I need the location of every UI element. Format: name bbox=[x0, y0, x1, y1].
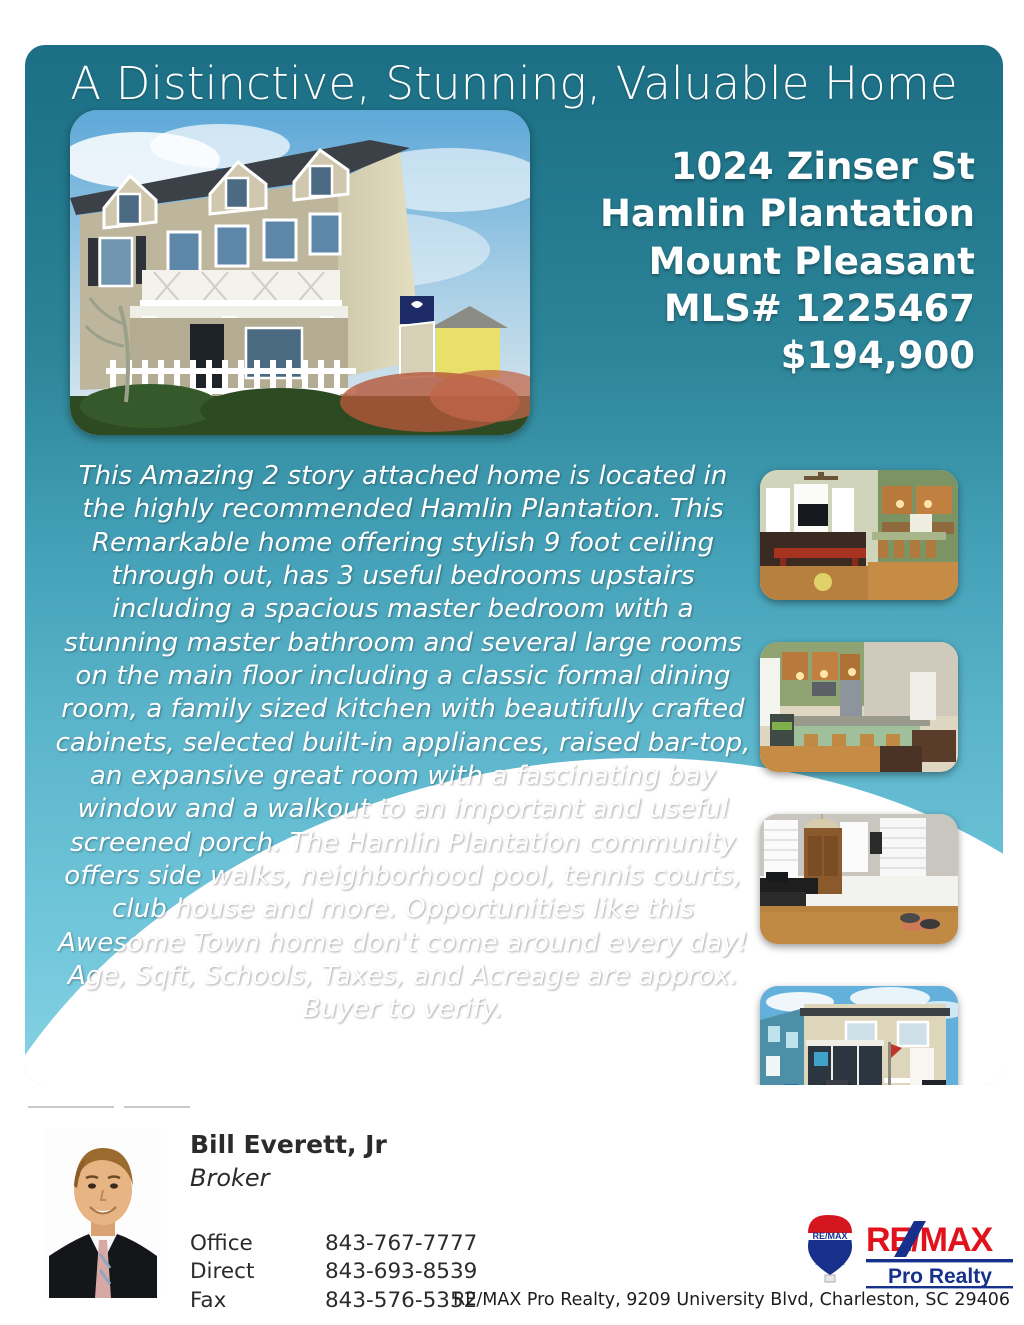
agent-name: Bill Everett, Jr bbox=[190, 1130, 387, 1159]
page-title: A Distinctive, Stunning, Valuable Home bbox=[25, 57, 1003, 110]
property-address: 1024 Zinser St bbox=[555, 143, 975, 190]
svg-text:RE/MAX: RE/MAX bbox=[812, 1231, 847, 1241]
contact-row-direct: Direct 843-693-8539 bbox=[190, 1258, 477, 1286]
thumbnail-rear-exterior bbox=[760, 986, 958, 1085]
property-subdivision: Hamlin Plantation bbox=[555, 190, 975, 237]
hero-property-photo bbox=[70, 110, 530, 435]
agent-photo bbox=[45, 1128, 161, 1298]
contact-row-office: Office 843-767-7777 bbox=[190, 1230, 477, 1258]
property-price: $194,900 bbox=[555, 332, 975, 379]
property-description: This Amazing 2 story attached home is lo… bbox=[53, 460, 753, 1027]
contact-label-direct: Direct bbox=[190, 1258, 325, 1286]
contact-label-office: Office bbox=[190, 1230, 325, 1258]
thumbnail-4-graphic bbox=[760, 986, 958, 1085]
contact-value-direct[interactable]: 843-693-8539 bbox=[325, 1258, 477, 1286]
flyer-panel: A Distinctive, Stunning, Valuable Home bbox=[25, 45, 1003, 1085]
footer-address: RE/MAX Pro Realty, 9209 University Blvd,… bbox=[0, 1290, 1010, 1310]
property-city: Mount Pleasant bbox=[555, 238, 975, 285]
remax-logo: RE/MAX RE/MAX Pro Realty bbox=[798, 1213, 1013, 1289]
agent-photo-graphic bbox=[45, 1128, 161, 1298]
contact-value-office[interactable]: 843-767-7777 bbox=[325, 1230, 477, 1258]
property-mls: MLS# 1225467 bbox=[555, 285, 975, 332]
thumbnail-great-room bbox=[760, 470, 958, 600]
remax-logo-graphic: RE/MAX RE/MAX Pro Realty bbox=[798, 1213, 1013, 1289]
hero-photo-graphic bbox=[70, 110, 530, 435]
divider-line-left bbox=[28, 1106, 114, 1108]
agent-title: Broker bbox=[190, 1164, 270, 1192]
thumbnail-3-graphic bbox=[760, 814, 958, 944]
remax-wordmark: RE/MAX bbox=[866, 1221, 994, 1259]
remax-balloon-icon: RE/MAX bbox=[808, 1215, 852, 1282]
thumbnail-1-graphic bbox=[760, 470, 958, 600]
thumbnail-2-graphic bbox=[760, 642, 958, 772]
remax-subbrand: Pro Realty bbox=[888, 1265, 992, 1288]
thumbnail-kitchen bbox=[760, 642, 958, 772]
property-details: 1024 Zinser St Hamlin Plantation Mount P… bbox=[555, 143, 975, 380]
thumbnail-dining-room bbox=[760, 814, 958, 944]
divider-line-right bbox=[124, 1106, 190, 1108]
